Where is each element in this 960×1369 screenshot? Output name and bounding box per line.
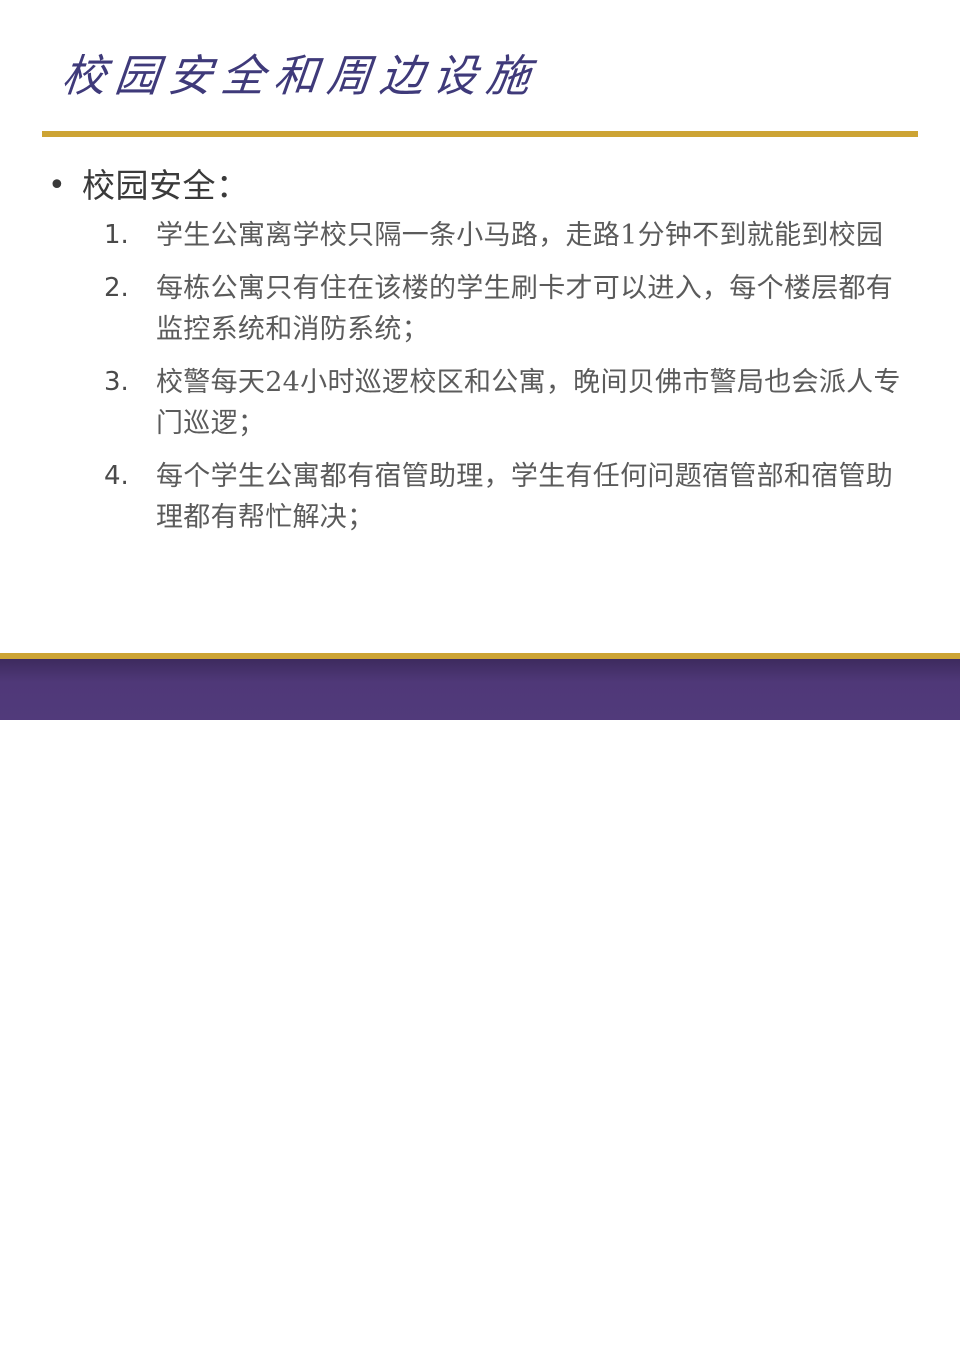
list-item-number: 4. [104,456,156,497]
list-item: 4. 每个学生公寓都有宿管助理，学生有任何问题宿管部和宿管助理都有帮忙解决； [0,456,960,538]
list-item-text: 学生公寓离学校只隔一条小马路，走路1分钟不到就能到校园 [156,215,916,256]
footer-bar: 20 BELLEVUE [0,659,960,720]
lead-bullet-row: • 校园安全： [0,163,960,209]
slide-canvas: 校园安全和周边设施 • 校园安全： 1. 学生公寓离学校只隔一条小马路，走路1分… [0,0,960,720]
brand-name: BELLEVUE [764,1325,928,1351]
bullet-dot-icon: • [48,163,82,209]
list-item: 3. 校警每天24小时巡逻校区和公寓，晚间贝佛市警局也会派人专门巡逻； [0,362,960,444]
numbered-list: 1. 学生公寓离学校只隔一条小马路，走路1分钟不到就能到校园 2. 每栋公寓只有… [0,215,960,538]
list-item-text: 校警每天24小时巡逻校区和公寓，晚间贝佛市警局也会派人专门巡逻； [156,362,916,444]
list-item-number: 3. [104,362,156,403]
list-item-text: 每栋公寓只有住在该楼的学生刷卡才可以进入，每个楼层都有监控系统和消防系统； [156,268,916,350]
list-item: 2. 每栋公寓只有住在该楼的学生刷卡才可以进入，每个楼层都有监控系统和消防系统； [0,268,960,350]
brand-lockup: BELLEVUE UNIVERSITY [712,1325,928,1369]
slide-body: • 校园安全： 1. 学生公寓离学校只隔一条小马路，走路1分钟不到就能到校园 2… [0,163,960,550]
slide-title-area: 校园安全和周边设施 [0,46,960,126]
brand-wordmark: BELLEVUE UNIVERSITY [764,1325,928,1369]
lead-bullet-text: 校园安全： [82,163,250,209]
title-divider-rule [42,131,918,137]
list-item-text: 每个学生公寓都有宿管助理，学生有任何问题宿管部和宿管助理都有帮忙解决； [156,456,916,538]
list-item: 1. 学生公寓离学校只隔一条小马路，走路1分钟不到就能到校园 [0,215,960,256]
list-item-number: 1. [104,215,156,256]
page-number: 20 [58,1334,78,1352]
brand-subtitle: UNIVERSITY [764,1353,890,1369]
bellevue-crest-icon [712,1327,752,1367]
page-title: 校园安全和周边设施 [59,46,543,108]
list-item-number: 2. [104,268,156,309]
